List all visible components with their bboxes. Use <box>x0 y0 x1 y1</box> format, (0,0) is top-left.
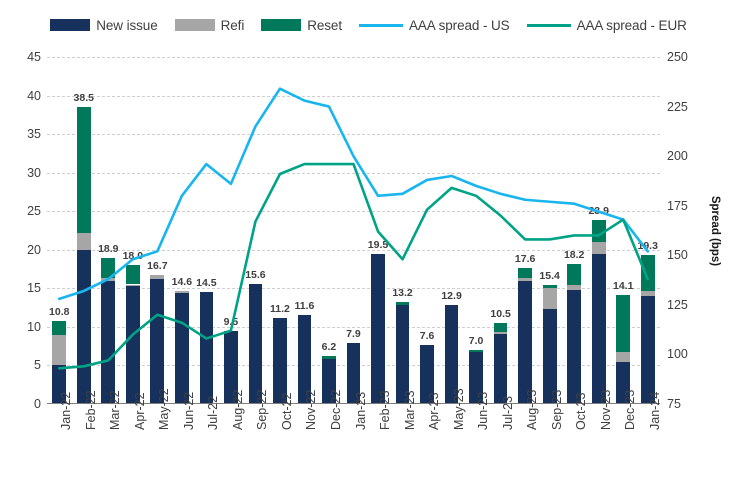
x-axis-label-Dec-23: Dec-23 <box>623 416 637 430</box>
legend-item-label: AAA spread - US <box>409 18 510 33</box>
legend-item-label: New issue <box>96 18 157 33</box>
x-axis-label-Mar-22: Mar-22 <box>108 416 122 430</box>
left-axis-tick-label: 25 <box>7 204 41 218</box>
legend-aaa-spread-us[interactable]: AAA spread - US <box>359 18 510 33</box>
legend-refi[interactable]: Refi <box>175 18 245 33</box>
right-axis-title: Spread (bps) <box>707 57 723 404</box>
x-axis-label-Aug-23: Aug-23 <box>525 416 539 430</box>
x-axis-label-Jan-23: Jan-23 <box>354 416 368 430</box>
x-axis-label-Oct-23: Oct-23 <box>574 416 588 430</box>
x-axis-label-Jan-22: Jan-22 <box>59 416 73 430</box>
x-axis-label-Jan-24: Jan-24 <box>648 416 662 430</box>
left-axis-tick-label: 40 <box>7 89 41 103</box>
left-axis-tick-label: 5 <box>7 358 41 372</box>
x-axis-label-Oct-22: Oct-22 <box>280 416 294 430</box>
right-axis-tick-label: 150 <box>667 248 707 262</box>
right-axis-tick-label: 175 <box>667 199 707 213</box>
clo-issuance-spread-chart: New issueRefiResetAAA spread - USAAA spr… <box>0 0 737 480</box>
left-axis-tick-label: 0 <box>7 397 41 411</box>
right-axis-tick-label: 75 <box>667 397 707 411</box>
x-axis-label-Apr-22: Apr-22 <box>133 416 147 430</box>
line-aaa-spread-us <box>59 89 647 299</box>
right-axis-tick-label: 100 <box>667 347 707 361</box>
legend-item-label: AAA spread - EUR <box>577 18 687 33</box>
legend-aaa-spread-eur[interactable]: AAA spread - EUR <box>527 18 687 33</box>
plot-area: 051015202530354045 751001251501752002252… <box>47 57 660 404</box>
left-axis-tick-label: 20 <box>7 243 41 257</box>
legend-line-icon <box>527 24 571 27</box>
legend-line-icon <box>359 24 403 27</box>
line-aaa-spread-eur <box>59 164 647 368</box>
right-axis-title-text: Spread (bps) <box>709 195 721 265</box>
x-axis-label-Jul-23: Jul-23 <box>501 416 515 430</box>
x-axis-label-Dec-22: Dec-22 <box>329 416 343 430</box>
x-axis-label-May-23: May-23 <box>452 416 466 430</box>
x-axis-label-Apr-23: Apr-23 <box>427 416 441 430</box>
x-axis-label-Nov-23: Nov-23 <box>599 416 613 430</box>
x-axis-label-Sep-23: Sep-23 <box>550 416 564 430</box>
legend-item-label: Refi <box>221 18 245 33</box>
right-axis-tick-label: 225 <box>667 100 707 114</box>
left-axis-tick-label: 15 <box>7 281 41 295</box>
x-axis-label-Jun-23: Jun-23 <box>476 416 490 430</box>
right-axis-tick-label: 125 <box>667 298 707 312</box>
legend-swatch-icon <box>50 19 90 31</box>
x-axis-label-Nov-22: Nov-22 <box>304 416 318 430</box>
legend-reset[interactable]: Reset <box>261 18 342 33</box>
x-axis-label-May-22: May-22 <box>157 416 171 430</box>
x-axis-label-Mar-23: Mar-23 <box>403 416 417 430</box>
x-axis-labels: Jan-22Feb-22Mar-22Apr-22May-22Jun-22Jul-… <box>47 409 660 479</box>
left-axis-tick-label: 30 <box>7 166 41 180</box>
x-axis-label-Jul-22: Jul-22 <box>206 416 220 430</box>
x-axis-label-Sep-22: Sep-22 <box>255 416 269 430</box>
legend-swatch-icon <box>175 19 215 31</box>
right-axis-tick-label: 200 <box>667 149 707 163</box>
left-axis-tick-label: 35 <box>7 127 41 141</box>
left-axis-tick-label: 10 <box>7 320 41 334</box>
x-axis-label-Feb-22: Feb-22 <box>84 416 98 430</box>
legend-item-label: Reset <box>307 18 342 33</box>
chart-legend: New issueRefiResetAAA spread - USAAA spr… <box>0 14 737 36</box>
legend-swatch-icon <box>261 19 301 31</box>
right-axis-tick-label: 250 <box>667 50 707 64</box>
x-axis-label-Aug-22: Aug-22 <box>231 416 245 430</box>
left-axis-tick-label: 45 <box>7 50 41 64</box>
x-axis-label-Jun-22: Jun-22 <box>182 416 196 430</box>
x-axis-label-Feb-23: Feb-23 <box>378 416 392 430</box>
legend-new-issue[interactable]: New issue <box>50 18 157 33</box>
line-series <box>47 57 660 404</box>
